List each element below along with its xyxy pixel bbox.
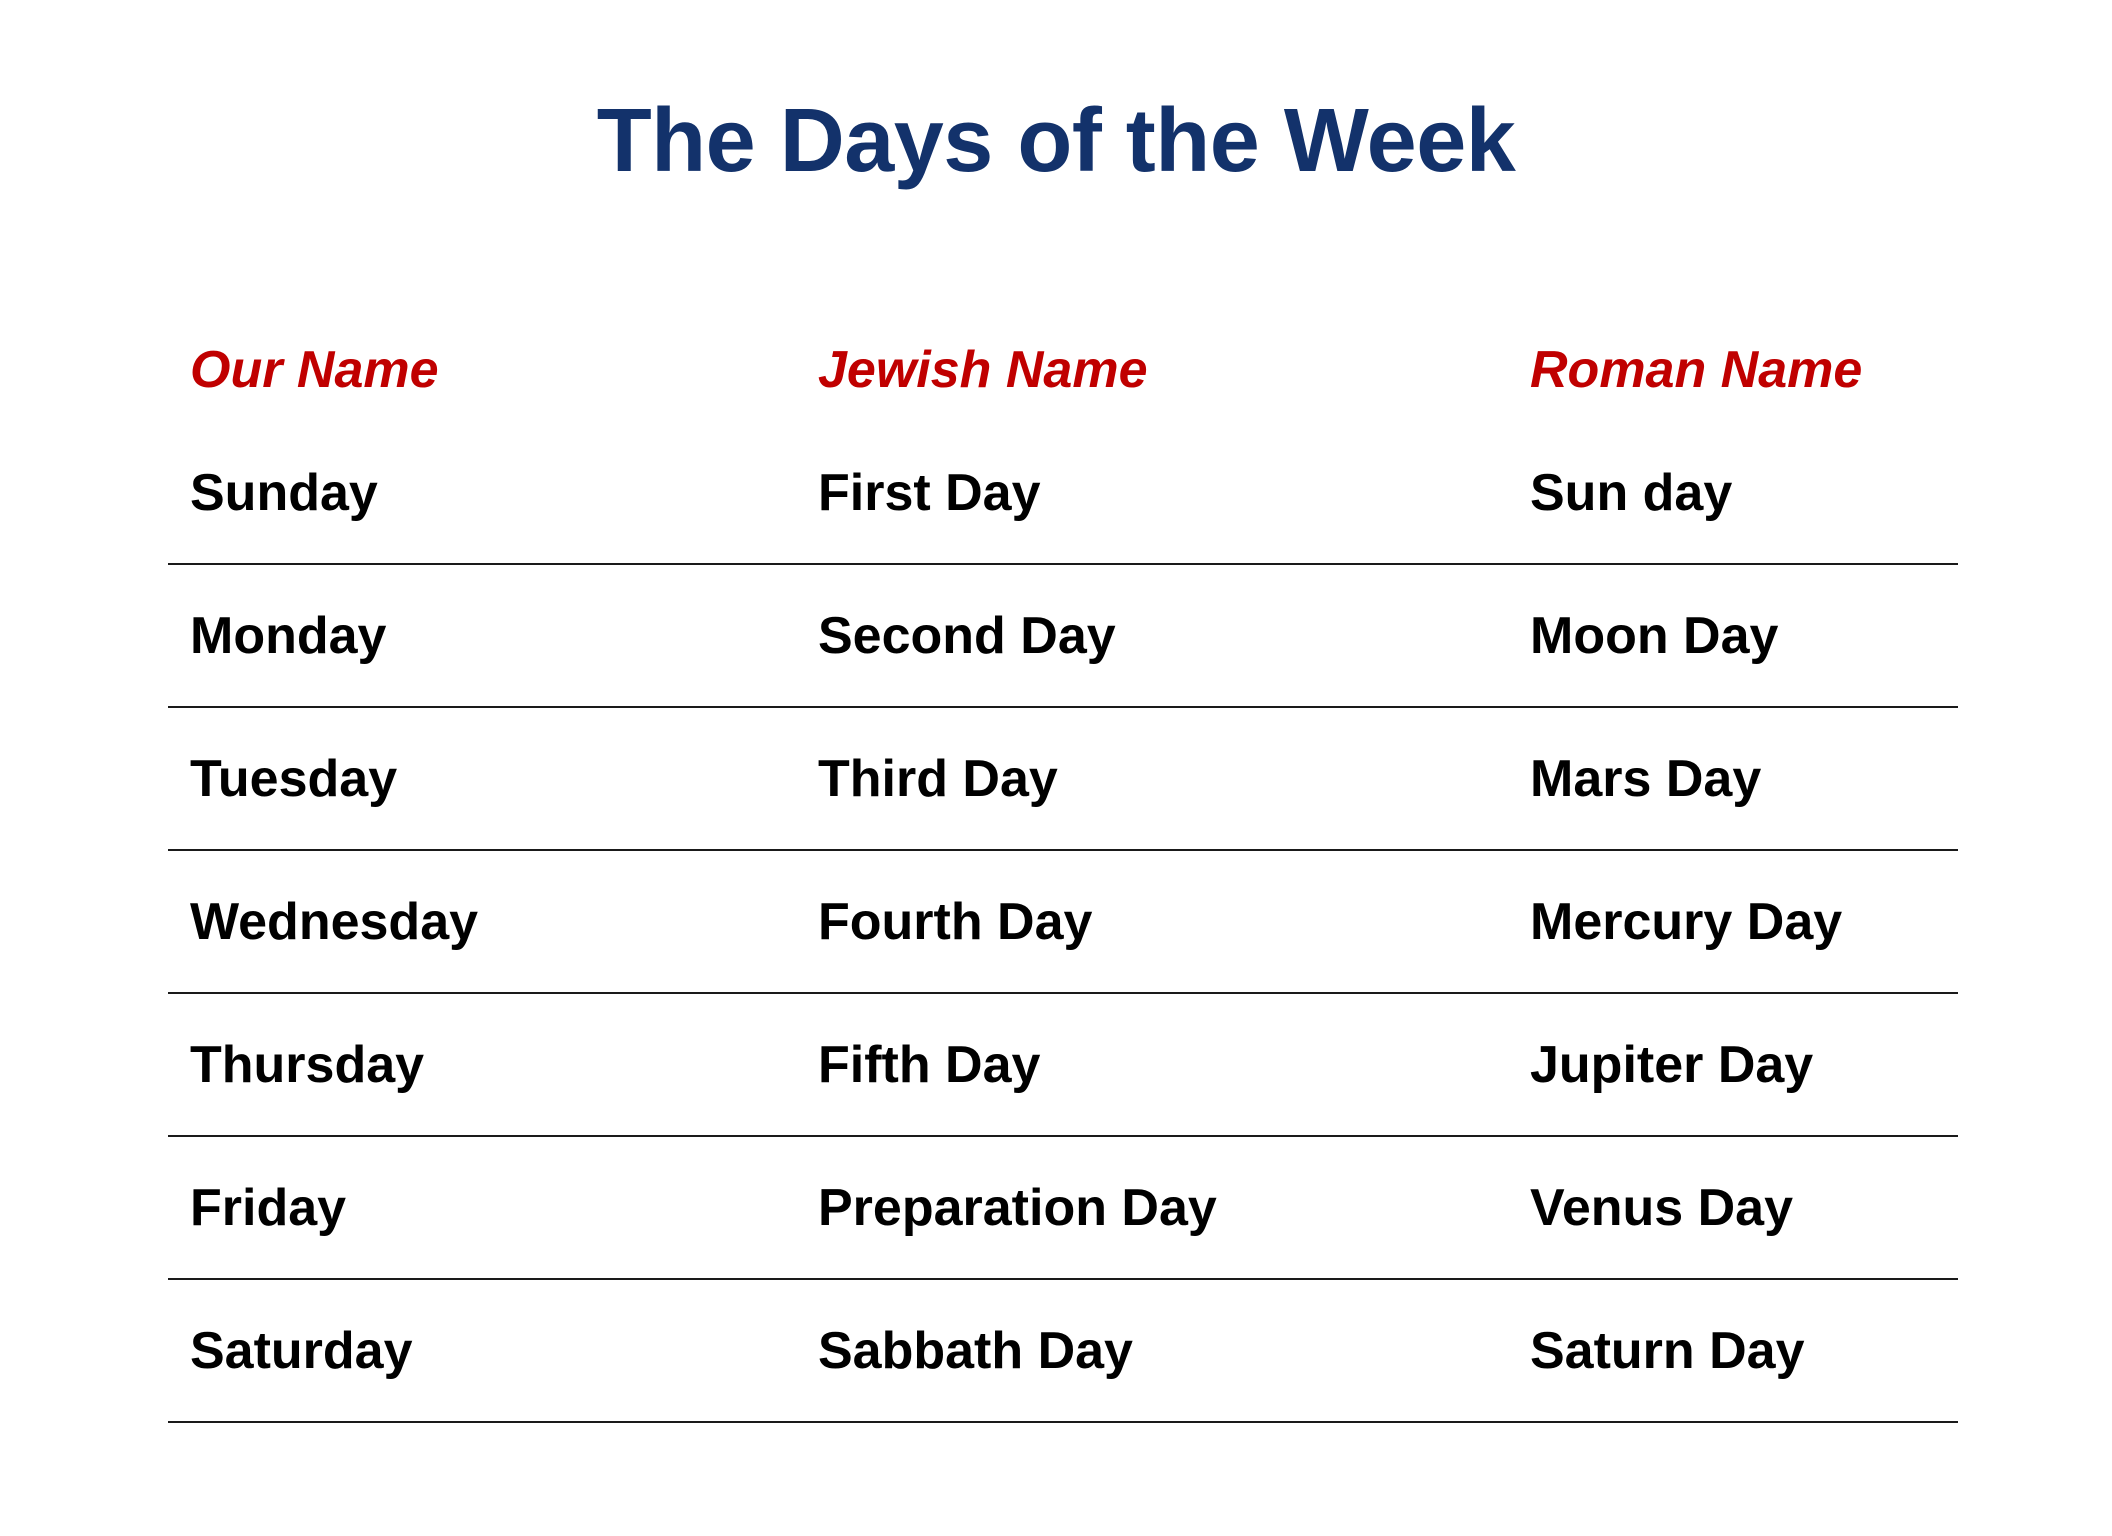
table-row: Thursday Fifth Day Jupiter Day <box>168 994 1958 1137</box>
cell-text: Fifth Day <box>818 1035 1040 1095</box>
cell-text: Third Day <box>818 749 1058 809</box>
cell-text: First Day <box>818 463 1041 523</box>
cell-jewish-name: Preparation Day <box>818 1178 1530 1238</box>
cell-roman-name: Venus Day <box>1530 1178 1958 1238</box>
cell-roman-name: Jupiter Day <box>1530 1035 1958 1095</box>
cell-jewish-name: Second Day <box>818 606 1530 666</box>
table-header-row: Our Name Jewish Name Roman Name <box>168 318 1958 422</box>
days-of-week-table: Our Name Jewish Name Roman Name Sunday F… <box>168 318 1958 1423</box>
page-title: The Days of the Week <box>0 96 2112 186</box>
cell-jewish-name: Fourth Day <box>818 892 1530 952</box>
cell-text: Preparation Day <box>818 1178 1217 1238</box>
cell-our-name: Sunday <box>168 463 818 523</box>
cell-jewish-name: First Day <box>818 463 1530 523</box>
column-header-jewish-name-label: Jewish Name <box>818 340 1148 400</box>
cell-text: Monday <box>190 606 386 666</box>
cell-text: Moon Day <box>1530 606 1778 666</box>
column-header-our-name: Our Name <box>168 340 818 400</box>
cell-roman-name: Moon Day <box>1530 606 1958 666</box>
table-row: Wednesday Fourth Day Mercury Day <box>168 851 1958 994</box>
cell-text: Second Day <box>818 606 1116 666</box>
cell-text: Sunday <box>190 463 378 523</box>
column-header-roman-name-label: Roman Name <box>1530 340 1862 400</box>
cell-our-name: Thursday <box>168 1035 818 1095</box>
cell-text: Jupiter Day <box>1530 1035 1813 1095</box>
cell-jewish-name: Fifth Day <box>818 1035 1530 1095</box>
cell-text: Mars Day <box>1530 749 1761 809</box>
cell-our-name: Saturday <box>168 1321 818 1381</box>
cell-text: Thursday <box>190 1035 424 1095</box>
cell-text: Tuesday <box>190 749 397 809</box>
cell-jewish-name: Sabbath Day <box>818 1321 1530 1381</box>
cell-text: Sun day <box>1530 463 1732 523</box>
cell-text: Friday <box>190 1178 346 1238</box>
column-header-jewish-name: Jewish Name <box>818 340 1530 400</box>
cell-text: Saturn Day <box>1530 1321 1805 1381</box>
cell-text: Venus Day <box>1530 1178 1793 1238</box>
column-header-roman-name: Roman Name <box>1530 340 1958 400</box>
cell-text: Wednesday <box>190 892 478 952</box>
cell-our-name: Friday <box>168 1178 818 1238</box>
column-header-our-name-label: Our Name <box>190 340 439 400</box>
cell-roman-name: Sun day <box>1530 463 1958 523</box>
cell-text: Fourth Day <box>818 892 1092 952</box>
table-row: Saturday Sabbath Day Saturn Day <box>168 1280 1958 1423</box>
cell-text: Saturday <box>190 1321 413 1381</box>
cell-text: Sabbath Day <box>818 1321 1133 1381</box>
cell-roman-name: Saturn Day <box>1530 1321 1958 1381</box>
cell-jewish-name: Third Day <box>818 749 1530 809</box>
table-row: Friday Preparation Day Venus Day <box>168 1137 1958 1280</box>
slide-canvas: The Days of the Week Our Name Jewish Nam… <box>0 0 2112 1536</box>
cell-text: Mercury Day <box>1530 892 1842 952</box>
cell-our-name: Monday <box>168 606 818 666</box>
cell-our-name: Tuesday <box>168 749 818 809</box>
table-row: Monday Second Day Moon Day <box>168 565 1958 708</box>
table-row: Sunday First Day Sun day <box>168 422 1958 565</box>
table-row: Tuesday Third Day Mars Day <box>168 708 1958 851</box>
cell-roman-name: Mercury Day <box>1530 892 1958 952</box>
cell-roman-name: Mars Day <box>1530 749 1958 809</box>
cell-our-name: Wednesday <box>168 892 818 952</box>
